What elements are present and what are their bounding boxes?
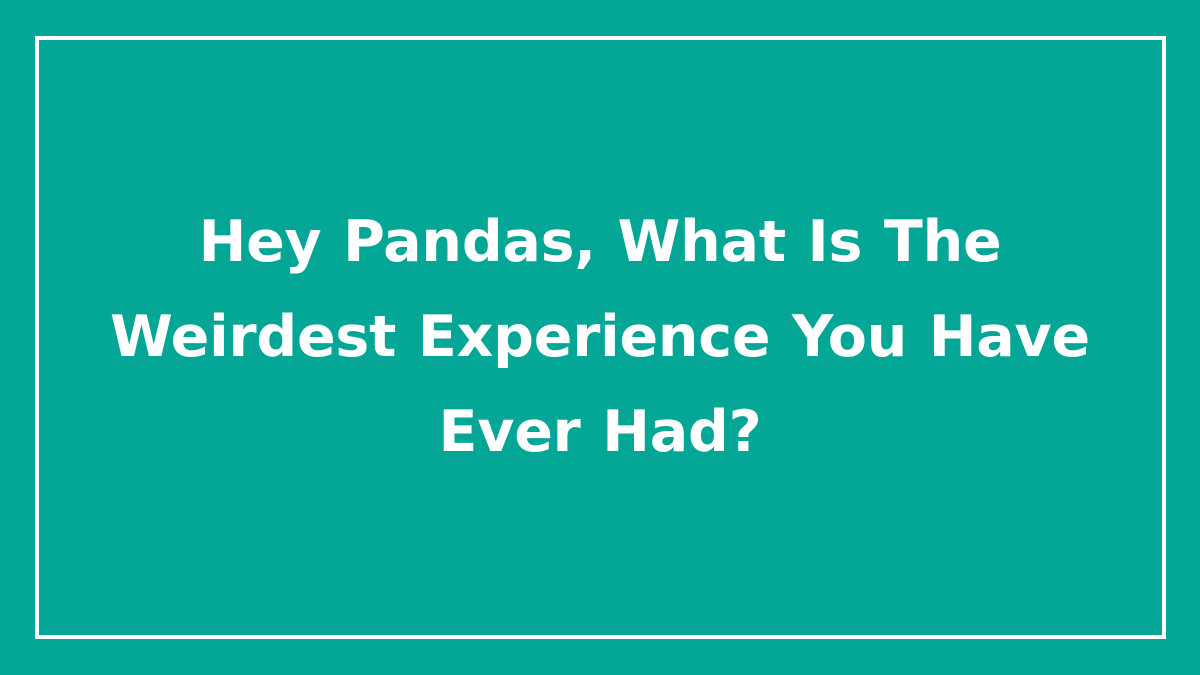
- headline-container: Hey Pandas, What Is The Weirdest Experie…: [0, 0, 1200, 675]
- poster-headline: Hey Pandas, What Is The Weirdest Experie…: [100, 195, 1100, 480]
- poster-canvas: Hey Pandas, What Is The Weirdest Experie…: [0, 0, 1200, 675]
